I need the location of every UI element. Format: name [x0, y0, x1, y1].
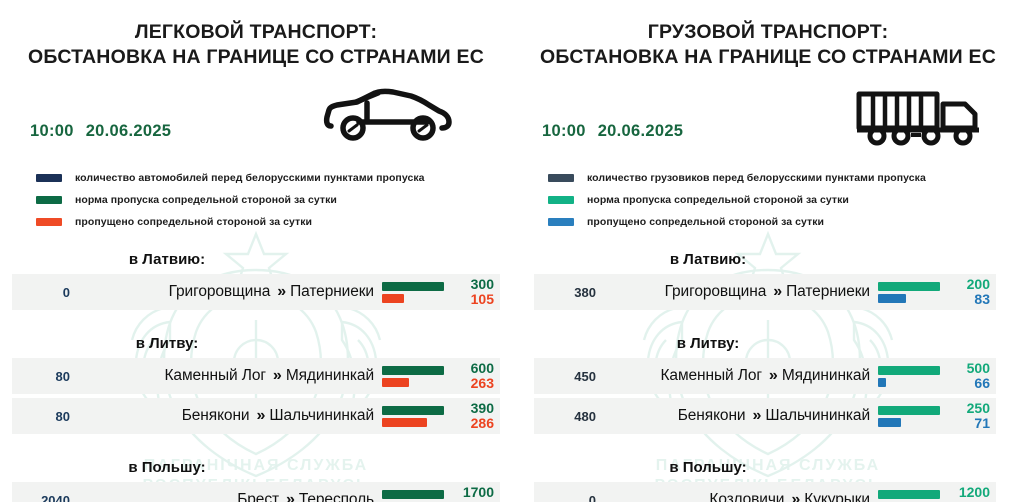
- checkpoint-from: Бенякони: [182, 407, 250, 425]
- value-group: 25071: [944, 401, 996, 431]
- legend: количество грузовиков перед белорусскими…: [548, 168, 926, 234]
- bar-group: [878, 406, 944, 427]
- queue-count: 80: [12, 369, 70, 384]
- group-heading-1: в Литву:: [512, 330, 1024, 358]
- group-heading-1: в Литву:: [0, 330, 512, 358]
- double-chevron-right-icon: »: [273, 367, 279, 385]
- bar-group: [878, 366, 944, 387]
- bar-norm: [878, 366, 940, 375]
- checkpoint-to: Шальчининкай: [269, 407, 374, 425]
- table-row[interactable]: 380Григоровщина»Патерниеки20083: [534, 274, 996, 310]
- value-passed: 263: [448, 376, 494, 391]
- panel-title: ЛЕГКОВОЙ ТРАНСПОРТ:ОБСТАНОВКА НА ГРАНИЦЕ…: [0, 0, 512, 70]
- value-group: 1200462: [944, 485, 996, 502]
- checkpoint-from: Козловичи: [709, 491, 784, 502]
- bar-passed: [382, 418, 427, 427]
- checkpoint-to: Тересполь: [299, 491, 374, 502]
- group-spacer: [0, 438, 512, 454]
- legend-label-2: пропущено сопредельной стороной за сутки: [75, 216, 312, 228]
- legend-label-1: норма пропуска сопредельной стороной за …: [587, 194, 849, 206]
- bar-norm: [382, 490, 444, 499]
- bar-norm: [878, 406, 940, 415]
- value-norm: 390: [448, 401, 494, 416]
- checkpoint-to: Мядининкай: [782, 367, 870, 385]
- legend-swatch-2: [36, 218, 62, 226]
- bar-passed: [382, 294, 404, 303]
- queue-count: 2040: [12, 493, 70, 502]
- route: Григоровщина»Патерниеки: [70, 283, 382, 301]
- bar-passed: [878, 418, 901, 427]
- value-norm: 500: [944, 361, 990, 376]
- checkpoint-table: в Латвию:0Григоровщина»Патерниеки300105в…: [0, 246, 512, 502]
- table-row[interactable]: 80Каменный Лог»Мядининкай600263: [12, 358, 500, 394]
- group-spacer: [512, 438, 1024, 454]
- value-passed: 71: [944, 416, 990, 431]
- value-group: 1700589: [448, 485, 500, 502]
- checkpoint-to: Патерниеки: [786, 283, 870, 301]
- value-norm: 300: [448, 277, 494, 292]
- checkpoint-from: Бенякони: [678, 407, 746, 425]
- checkpoint-to: Шальчининкай: [765, 407, 870, 425]
- legend-item-2: пропущено сопредельной стороной за сутки: [548, 212, 926, 231]
- bar-group: [382, 366, 448, 387]
- bar-group: [382, 282, 448, 303]
- bar-group: [878, 490, 944, 502]
- table-row[interactable]: 2040Брест»Тересполь1700589: [12, 482, 500, 502]
- checkpoint-from: Григоровщина: [665, 283, 767, 301]
- queue-count: 0: [12, 285, 70, 300]
- timestamp-date: 20.06.2025: [86, 122, 172, 140]
- title-line-1: ГРУЗОВОЙ ТРАНСПОРТ:: [648, 21, 889, 43]
- group-heading-2: в Польшу:: [512, 454, 1024, 482]
- legend-swatch-0: [548, 174, 574, 182]
- bar-norm: [382, 406, 444, 415]
- legend-label-1: норма пропуска сопредельной стороной за …: [75, 194, 337, 206]
- double-chevron-right-icon: »: [752, 407, 758, 425]
- route: Брест»Тересполь: [70, 491, 382, 502]
- checkpoint-from: Брест: [237, 491, 279, 502]
- legend-item-0: количество автомобилей перед белорусским…: [36, 168, 425, 187]
- queue-count: 80: [12, 409, 70, 424]
- checkpoint-table: в Латвию:380Григоровщина»Патерниеки20083…: [512, 246, 1024, 502]
- value-group: 20083: [944, 277, 996, 307]
- checkpoint-from: Григоровщина: [169, 283, 271, 301]
- bar-norm: [382, 366, 444, 375]
- legend-item-2: пропущено сопредельной стороной за сутки: [36, 212, 425, 231]
- title-line-2: ОБСТАНОВКА НА ГРАНИЦЕ СО СТРАНАМИ ЕС: [0, 45, 512, 70]
- value-group: 600263: [448, 361, 500, 391]
- group-heading-0: в Латвию:: [0, 246, 512, 274]
- bar-group: [382, 490, 448, 502]
- route: Каменный Лог»Мядининкай: [596, 367, 878, 385]
- legend-swatch-0: [36, 174, 62, 182]
- infographic-board: ПАГРАНІЧНАЯ СЛУЖБА РЭСПУБЛІКІ БЕЛАРУСЬ Л…: [0, 0, 1024, 502]
- legend-item-0: количество грузовиков перед белорусскими…: [548, 168, 926, 187]
- value-passed: 66: [944, 376, 990, 391]
- legend-swatch-1: [36, 196, 62, 204]
- value-group: 390286: [448, 401, 500, 431]
- group-heading-0: в Латвию:: [512, 246, 1024, 274]
- value-norm: 600: [448, 361, 494, 376]
- value-norm: 250: [944, 401, 990, 416]
- title-line-2: ОБСТАНОВКА НА ГРАНИЦЕ СО СТРАНАМИ ЕС: [512, 45, 1024, 70]
- value-group: 300105: [448, 277, 500, 307]
- legend-label-0: количество грузовиков перед белорусскими…: [587, 172, 926, 184]
- checkpoint-to: Кукурыки: [804, 491, 870, 502]
- table-row[interactable]: 0Григоровщина»Патерниеки300105: [12, 274, 500, 310]
- timestamp-date: 20.06.2025: [598, 122, 684, 140]
- checkpoint-to: Мядининкай: [286, 367, 374, 385]
- route: Григоровщина»Патерниеки: [596, 283, 878, 301]
- bar-group: [382, 406, 448, 427]
- panel-title: ГРУЗОВОЙ ТРАНСПОРТ:ОБСТАНОВКА НА ГРАНИЦЕ…: [512, 0, 1024, 70]
- route: Бенякони»Шальчининкай: [596, 407, 878, 425]
- timestamp: 10:0020.06.2025: [542, 122, 683, 141]
- legend-label-0: количество автомобилей перед белорусским…: [75, 172, 425, 184]
- legend-item-1: норма пропуска сопредельной стороной за …: [548, 190, 926, 209]
- timestamp: 10:0020.06.2025: [30, 122, 171, 141]
- value-norm: 200: [944, 277, 990, 292]
- double-chevron-right-icon: »: [256, 407, 262, 425]
- queue-count: 450: [534, 369, 596, 384]
- panel-passenger: ПАГРАНІЧНАЯ СЛУЖБА РЭСПУБЛІКІ БЕЛАРУСЬ Л…: [0, 0, 512, 502]
- value-norm: 1700: [448, 485, 494, 500]
- legend-item-1: норма пропуска сопредельной стороной за …: [36, 190, 425, 209]
- value-passed: 105: [448, 292, 494, 307]
- queue-count: 0: [534, 493, 596, 502]
- table-row[interactable]: 450Каменный Лог»Мядининкай50066: [534, 358, 996, 394]
- timestamp-time: 10:00: [542, 122, 586, 140]
- legend-label-2: пропущено сопредельной стороной за сутки: [587, 216, 824, 228]
- route: Бенякони»Шальчининкай: [70, 407, 382, 425]
- bar-passed: [878, 378, 886, 387]
- bar-group: [878, 282, 944, 303]
- bar-norm: [878, 282, 940, 291]
- double-chevron-right-icon: »: [277, 283, 283, 301]
- double-chevron-right-icon: »: [769, 367, 775, 385]
- route: Козловичи»Кукурыки: [596, 491, 878, 502]
- table-row[interactable]: 80Бенякони»Шальчининкай390286: [12, 398, 500, 434]
- checkpoint-from: Каменный Лог: [661, 367, 762, 385]
- checkpoint-to: Патерниеки: [290, 283, 374, 301]
- checkpoint-from: Каменный Лог: [165, 367, 266, 385]
- group-spacer: [0, 314, 512, 330]
- group-heading-2: в Польшу:: [0, 454, 512, 482]
- queue-count: 380: [534, 285, 596, 300]
- bar-norm: [878, 490, 940, 499]
- value-group: 50066: [944, 361, 996, 391]
- table-row[interactable]: 0Козловичи»Кукурыки1200462: [534, 482, 996, 502]
- double-chevron-right-icon: »: [286, 491, 292, 502]
- truck-icon: [853, 86, 985, 153]
- bar-norm: [382, 282, 444, 291]
- value-norm: 1200: [944, 485, 990, 500]
- panel-freight: ПАГРАНІЧНАЯ СЛУЖБА РЭСПУБЛІКІ БЕЛАРУСЬ Г…: [512, 0, 1024, 502]
- double-chevron-right-icon: »: [791, 491, 797, 502]
- table-row[interactable]: 480Бенякони»Шальчининкай25071: [534, 398, 996, 434]
- car-icon: [323, 86, 453, 149]
- title-line-1: ЛЕГКОВОЙ ТРАНСПОРТ:: [135, 21, 377, 43]
- legend-swatch-2: [548, 218, 574, 226]
- queue-count: 480: [534, 409, 596, 424]
- timestamp-time: 10:00: [30, 122, 74, 140]
- legend: количество автомобилей перед белорусским…: [36, 168, 425, 234]
- bar-passed: [878, 294, 906, 303]
- value-passed: 286: [448, 416, 494, 431]
- double-chevron-right-icon: »: [773, 283, 779, 301]
- value-passed: 83: [944, 292, 990, 307]
- group-spacer: [512, 314, 1024, 330]
- legend-swatch-1: [548, 196, 574, 204]
- bar-passed: [382, 378, 409, 387]
- route: Каменный Лог»Мядининкай: [70, 367, 382, 385]
